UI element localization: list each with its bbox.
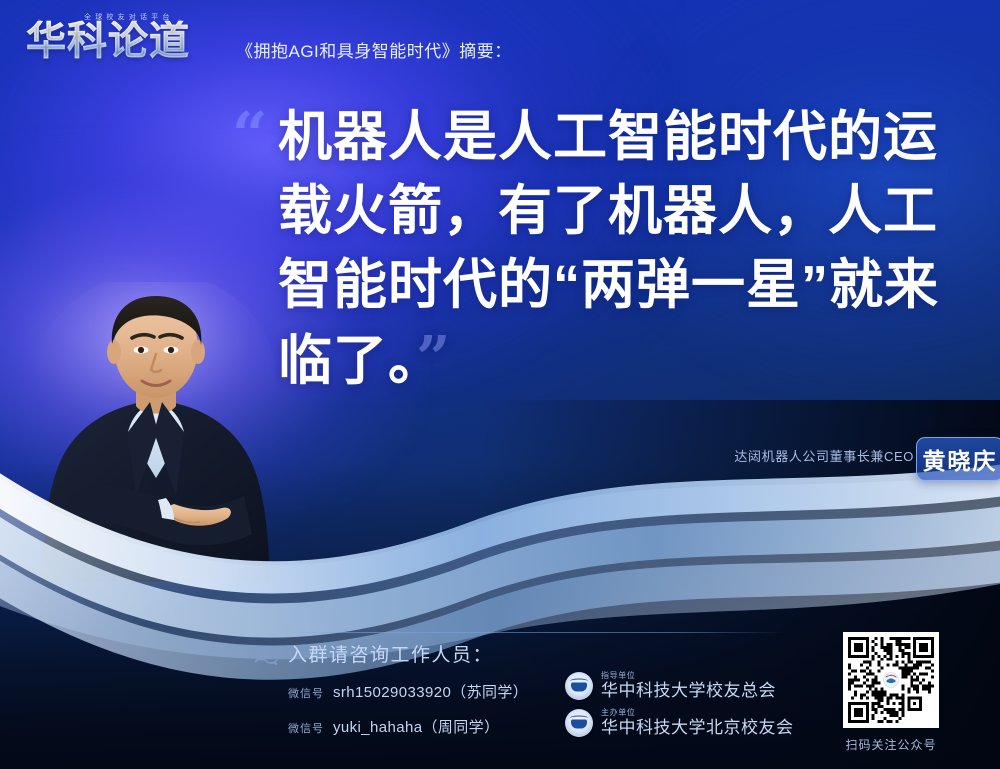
- quote-line: 智能时代的“两弹一星”就来: [278, 248, 958, 322]
- contact-label: 微信号: [288, 720, 324, 736]
- speaker-role: 达闼机器人公司董事长兼CEO: [734, 446, 914, 465]
- quote-line-last: 临了。”: [278, 322, 958, 398]
- contact-row: 微信号 yuki_hahaha（周同学）: [288, 716, 499, 737]
- wechat-icon: [252, 645, 280, 667]
- speaker-name: 黄晓庆: [923, 442, 998, 476]
- footer-heading: 入群请咨询工作人员：: [288, 640, 493, 667]
- footer-divider: [285, 632, 785, 633]
- quote-open-mark: “: [232, 104, 266, 166]
- quote-text: 机器人是人工智能时代的运 载火箭，有了机器人，人工 智能时代的“两弹一星”就来 …: [278, 100, 958, 398]
- qr-code[interactable]: [843, 632, 939, 728]
- quote-line: 载火箭，有了机器人，人工: [278, 174, 958, 248]
- contact-label: 微信号: [288, 685, 324, 701]
- organization-tag: 指导单位: [601, 672, 776, 680]
- qr-caption: 扫码关注公众号: [845, 736, 936, 753]
- quote-line: 机器人是人工智能时代的运: [278, 100, 958, 174]
- organization-name: 华中科技大学校友总会: [601, 681, 776, 700]
- quote-line-text: 临了。: [278, 331, 416, 391]
- header-subtitle: 《拥抱AGI和具身智能时代》摘要：: [236, 37, 512, 70]
- brand-wordmark: 华科论道: [26, 21, 190, 61]
- contact-row: 微信号 srh15029033920（苏同学）: [288, 681, 528, 702]
- university-seal-icon: [565, 672, 593, 700]
- organization-tag: 主办单位: [601, 709, 794, 717]
- qr-code-image: [848, 637, 934, 723]
- brand-logo: 全球校友对话平台 华科论道: [26, 14, 222, 70]
- speaker-portrait: [24, 282, 288, 582]
- speaker-name-badge: 黄晓庆: [916, 437, 1000, 481]
- poster-canvas: 全球校友对话平台 华科论道 《拥抱AGI和具身智能时代》摘要：: [0, 0, 1000, 769]
- university-seal-icon: [565, 709, 593, 737]
- contact-value[interactable]: yuki_hahaha（周同学）: [333, 716, 499, 737]
- organization-name: 华中科技大学北京校友会: [601, 718, 794, 737]
- organization-row: 主办单位 华中科技大学北京校友会: [565, 709, 794, 737]
- quote-close-mark: ”: [416, 324, 449, 394]
- organization-row: 指导单位 华中科技大学校友总会: [565, 672, 776, 700]
- contact-value[interactable]: srh15029033920（苏同学）: [333, 681, 528, 702]
- qr-section: 扫码关注公众号: [843, 632, 939, 753]
- speaker-attribution: 达闼机器人公司董事长兼CEO: [734, 446, 914, 465]
- poster-header: 全球校友对话平台 华科论道 《拥抱AGI和具身智能时代》摘要：: [26, 14, 512, 70]
